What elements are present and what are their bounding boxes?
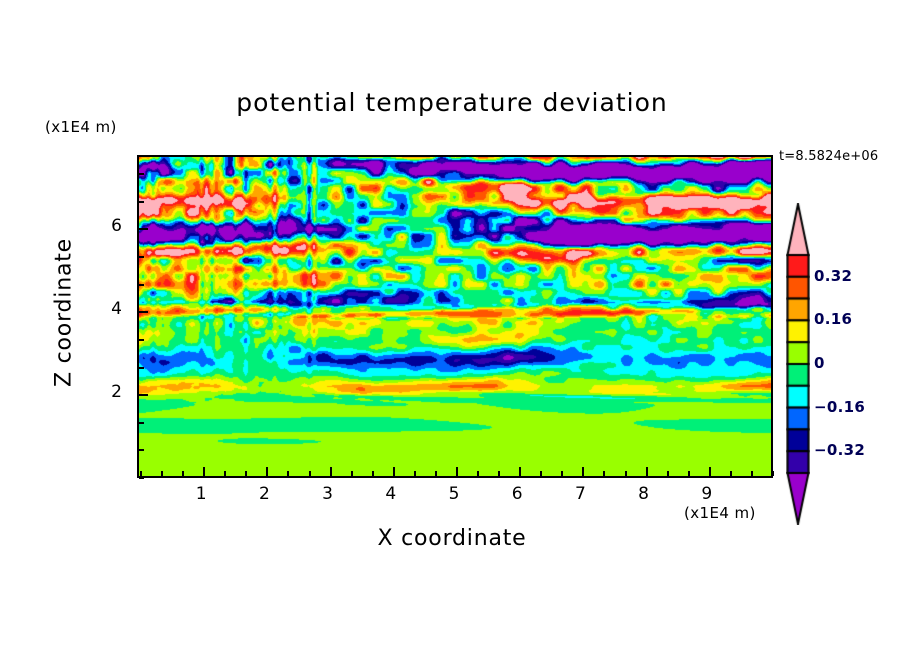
x-tick-minor bbox=[540, 471, 542, 476]
colorbar-canvas[interactable] bbox=[786, 203, 810, 525]
plot-area[interactable] bbox=[137, 155, 773, 478]
y-tick-minor bbox=[139, 201, 144, 203]
x-tick-major bbox=[393, 467, 395, 476]
x-tick-major bbox=[519, 467, 521, 476]
colorbar-label: 0.16 bbox=[814, 310, 852, 328]
x-tick-label: 3 bbox=[313, 484, 343, 504]
x-tick-label: 2 bbox=[249, 484, 279, 504]
x-tick-label: 7 bbox=[565, 484, 595, 504]
x-tick-minor bbox=[730, 471, 732, 476]
x-tick-minor bbox=[435, 471, 437, 476]
x-tick-major bbox=[266, 467, 268, 476]
x-tick-label: 8 bbox=[629, 484, 659, 504]
y-tick-minor bbox=[139, 173, 144, 175]
y-tick-label: 6 bbox=[96, 216, 122, 236]
x-tick-label: 6 bbox=[502, 484, 532, 504]
x-tick-major bbox=[582, 467, 584, 476]
x-axis-title: X coordinate bbox=[0, 526, 904, 551]
x-tick-minor bbox=[182, 471, 184, 476]
x-tick-label: 9 bbox=[692, 484, 722, 504]
y-tick-major bbox=[139, 394, 148, 396]
colorbar-label: −0.32 bbox=[814, 441, 865, 459]
y-tick-label: 2 bbox=[96, 382, 122, 402]
x-tick-minor bbox=[140, 471, 142, 476]
x-tick-minor bbox=[688, 471, 690, 476]
x-tick-minor bbox=[772, 471, 774, 476]
x-axis-unit-label: (x1E4 m) bbox=[684, 504, 756, 522]
x-tick-minor bbox=[603, 471, 605, 476]
x-tick-minor bbox=[224, 471, 226, 476]
colorbar-label: −0.16 bbox=[814, 398, 865, 416]
x-tick-major bbox=[330, 467, 332, 476]
x-tick-minor bbox=[561, 471, 563, 476]
y-tick-minor bbox=[139, 367, 144, 369]
page-title: potential temperature deviation bbox=[0, 88, 904, 117]
y-tick-major bbox=[139, 311, 148, 313]
colorbar-label: 0.32 bbox=[814, 267, 852, 285]
y-tick-minor bbox=[139, 284, 144, 286]
x-tick-minor bbox=[372, 471, 374, 476]
x-tick-minor bbox=[414, 471, 416, 476]
x-tick-major bbox=[646, 467, 648, 476]
x-tick-minor bbox=[477, 471, 479, 476]
colorbar-label: 0 bbox=[814, 354, 825, 372]
x-tick-minor bbox=[351, 471, 353, 476]
x-tick-major bbox=[709, 467, 711, 476]
y-tick-minor bbox=[139, 477, 144, 479]
figure-root: potential temperature deviation (x1E4 m)… bbox=[0, 0, 904, 654]
x-tick-minor bbox=[161, 471, 163, 476]
y-axis-title: Z coordinate bbox=[52, 213, 77, 413]
y-tick-label: 4 bbox=[96, 299, 122, 319]
x-tick-label: 1 bbox=[186, 484, 216, 504]
x-tick-minor bbox=[309, 471, 311, 476]
x-tick-major bbox=[456, 467, 458, 476]
x-tick-major bbox=[203, 467, 205, 476]
x-tick-minor bbox=[498, 471, 500, 476]
y-tick-minor bbox=[139, 256, 144, 258]
x-tick-minor bbox=[287, 471, 289, 476]
y-tick-minor bbox=[139, 449, 144, 451]
x-tick-label: 5 bbox=[439, 484, 469, 504]
colorbar[interactable] bbox=[786, 203, 810, 525]
x-tick-minor bbox=[625, 471, 627, 476]
x-tick-label: 4 bbox=[376, 484, 406, 504]
y-tick-minor bbox=[139, 422, 144, 424]
contour-field-canvas[interactable] bbox=[139, 157, 771, 476]
y-tick-minor bbox=[139, 339, 144, 341]
x-tick-minor bbox=[245, 471, 247, 476]
x-tick-minor bbox=[751, 471, 753, 476]
x-tick-minor bbox=[667, 471, 669, 476]
y-tick-major bbox=[139, 228, 148, 230]
y-axis-unit-label: (x1E4 m) bbox=[45, 118, 117, 136]
timestamp-label: t=8.5824e+06 bbox=[779, 149, 878, 164]
